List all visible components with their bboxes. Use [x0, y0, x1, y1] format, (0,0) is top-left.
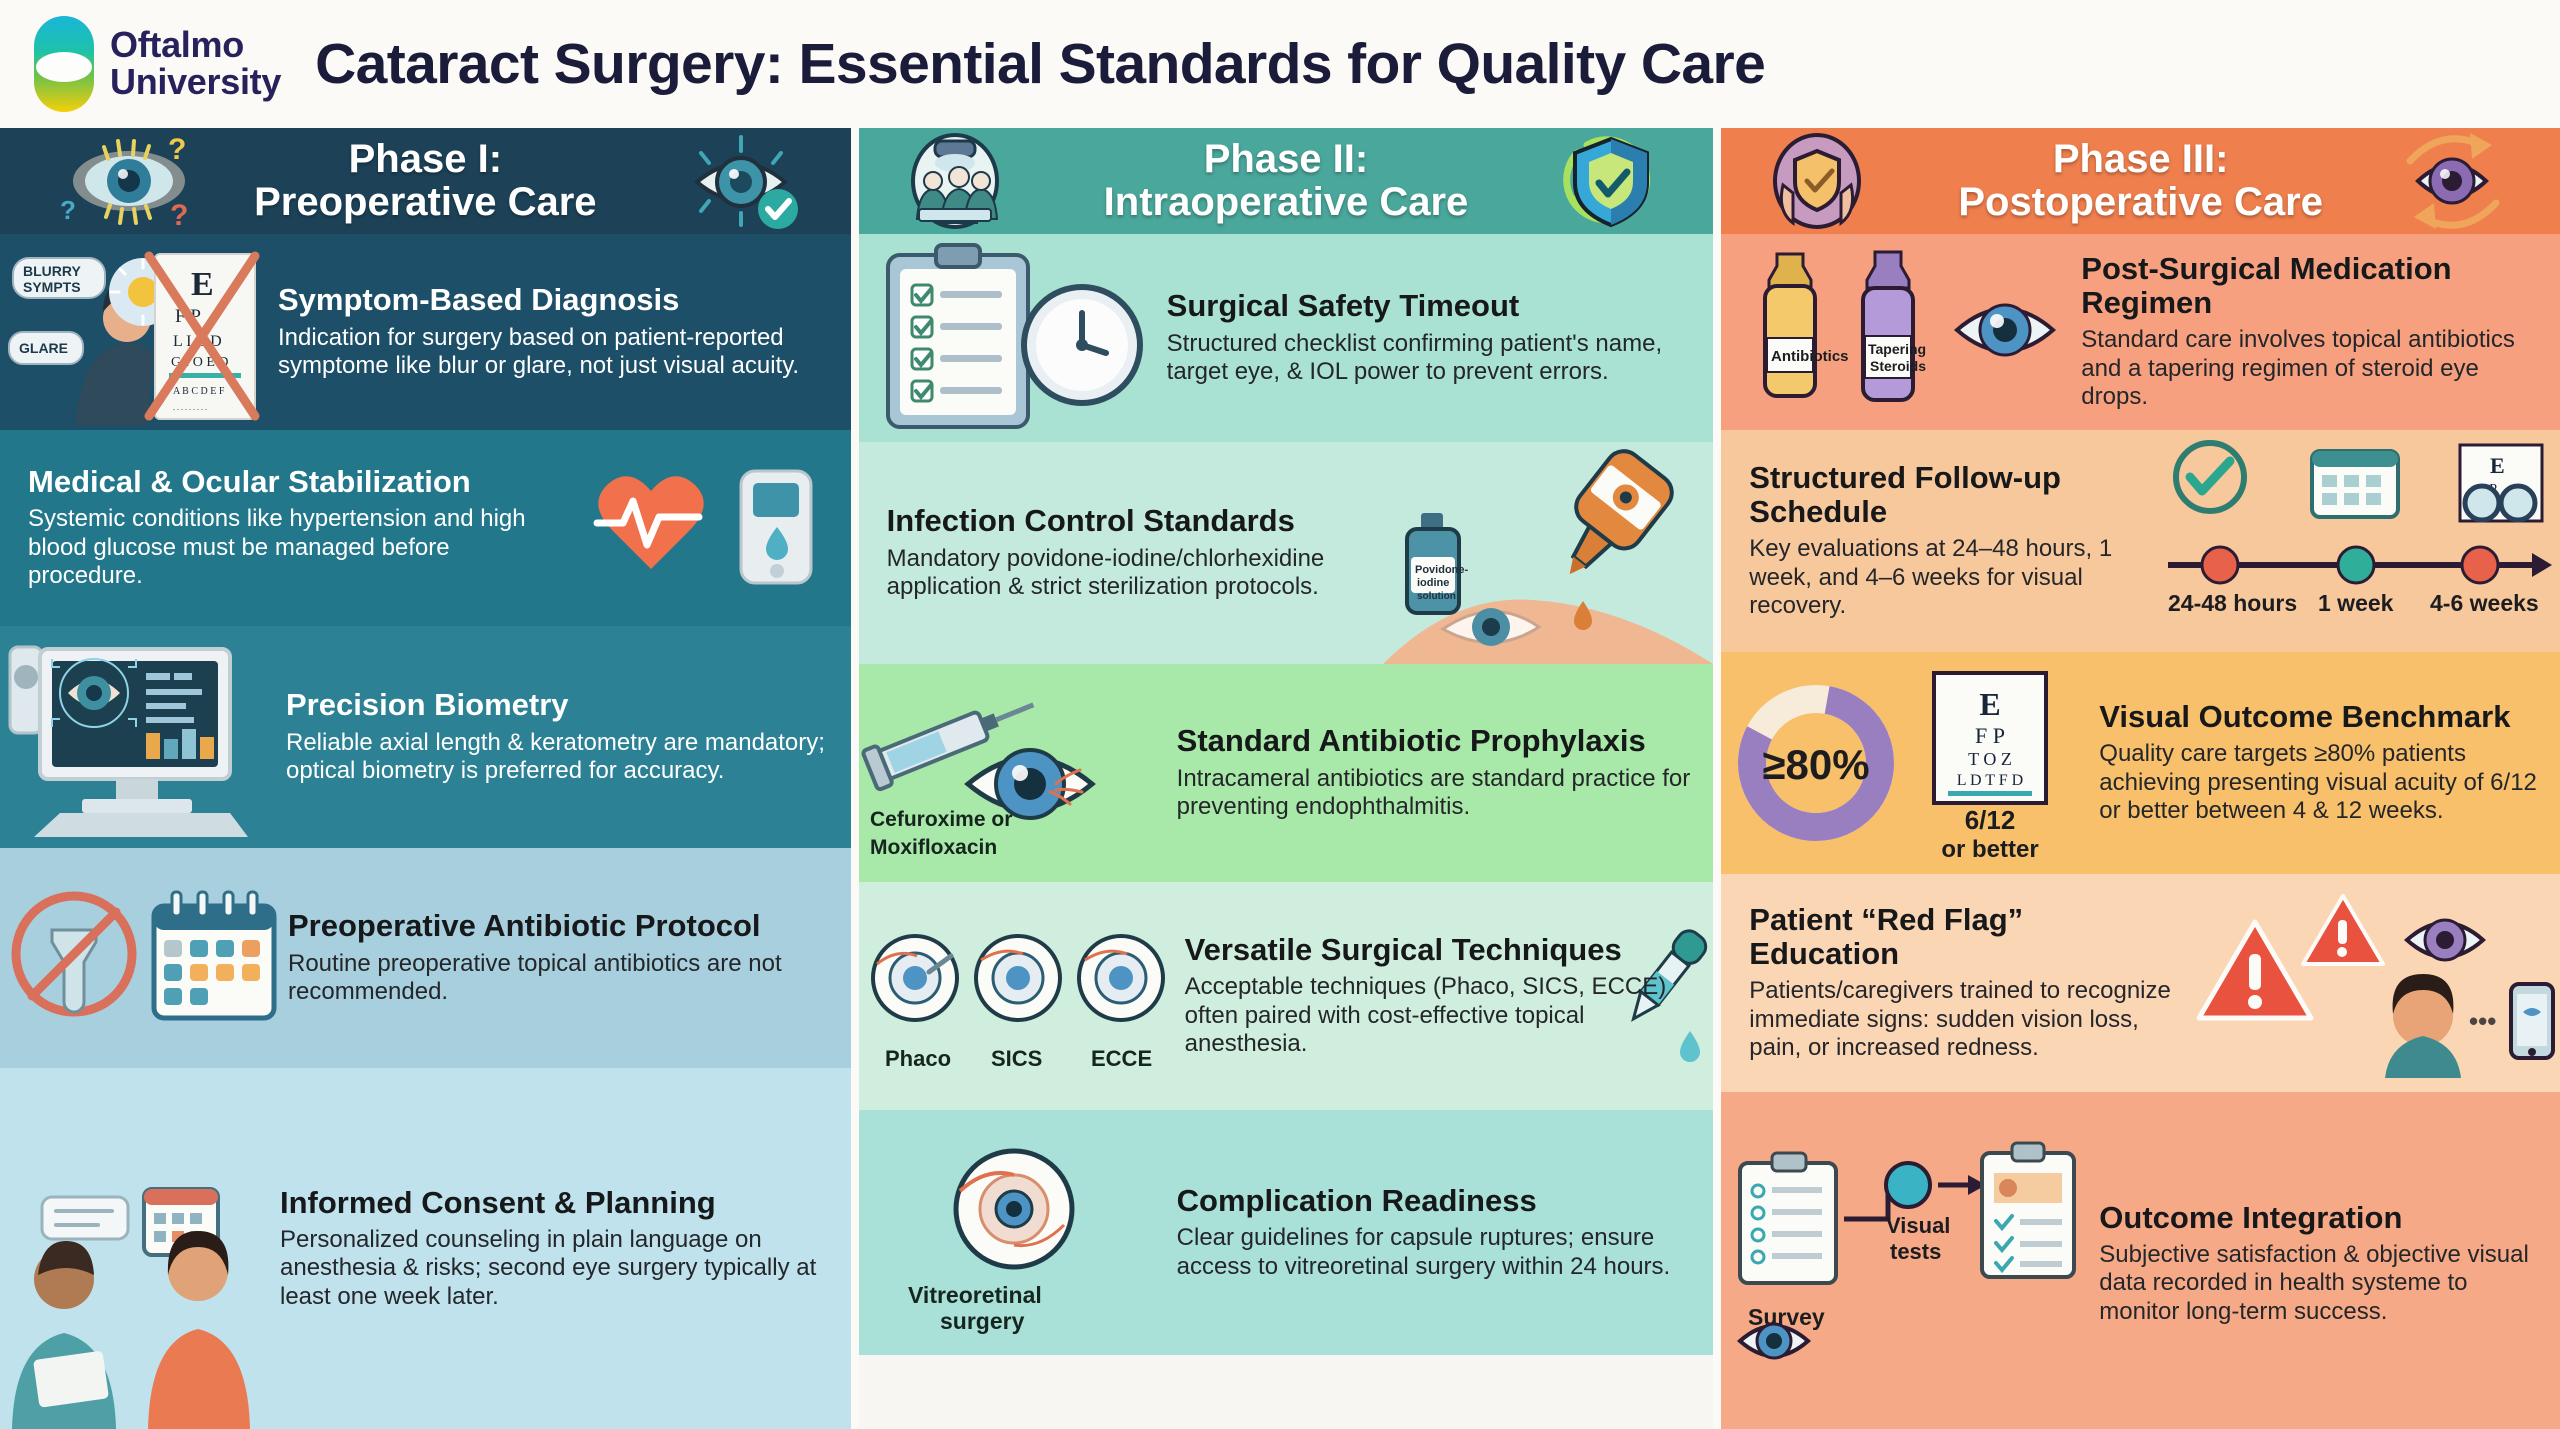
phase-2-title-line-1: Phase II:: [1104, 138, 1469, 181]
svg-text:Moxifloxacin: Moxifloxacin: [870, 836, 997, 859]
svg-text:solution: solution: [1417, 591, 1456, 602]
phase-2-header: Phase II: Intraoperative Care: [859, 128, 1714, 234]
row-title: Versatile Surgical Techniques: [1185, 933, 1692, 967]
row-body: Key evaluations at 24–48 hours, 1 week, …: [1749, 535, 2150, 621]
svg-text:T O Z: T O Z: [1968, 749, 2012, 769]
svg-text:tests: tests: [1890, 1239, 1941, 1264]
row-title: Post-Surgical Medication Regimen: [2081, 252, 2538, 320]
row-outcome-integration: Survey Visual tests: [1721, 1092, 2560, 1429]
lens-shape: [36, 52, 92, 82]
eye-lens-gradient-logo-icon: [34, 16, 94, 112]
doctor-patient-counseling-icon: [0, 1179, 272, 1429]
row-title: Preoperative Antibiotic Protocol: [288, 909, 829, 943]
follow-up-timeline-icon: E F P C E F Y 24-48 hours: [2160, 441, 2560, 641]
svg-text:E: E: [1980, 686, 2001, 722]
row-text: Visual Outcome Benchmark Quality care ta…: [2091, 700, 2560, 826]
svg-text:≥80%: ≥80%: [1763, 741, 1870, 788]
column-phase-1: ? ? ? Phase I: Preoperative Care: [0, 128, 851, 1429]
row-title: Outcome Integration: [2099, 1201, 2538, 1235]
row-title: Surgical Safety Timeout: [1167, 289, 1692, 323]
eye-cross-section-icon: Vitreoretinal surgery: [859, 1133, 1169, 1333]
svg-text:Cefuroxime or: Cefuroxime or: [870, 808, 1012, 831]
svg-text:surgery: surgery: [940, 1308, 1025, 1334]
biometry-monitor-icon: [0, 637, 278, 837]
phase-2-title: Phase II: Intraoperative Care: [1104, 138, 1469, 224]
svg-text:24-48 hours: 24-48 hours: [2168, 590, 2297, 616]
row-text: Surgical Safety Timeout Structured check…: [1159, 289, 1714, 386]
svg-text:?: ?: [168, 133, 186, 166]
svg-text:6/12: 6/12: [1965, 805, 2016, 835]
row-medical-ocular-stabilization: Medical & Ocular Stabilization Systemic …: [0, 430, 851, 626]
eye-with-rotation-arrows-icon: [2388, 133, 2518, 229]
shield-check-cycle-icon: [1551, 133, 1671, 229]
row-title: Medical & Ocular Stabilization: [28, 465, 571, 499]
row-text: Post-Surgical Medication Regimen Standar…: [2073, 252, 2560, 412]
svg-text:. . . . . . . . .: . . . . . . . . .: [173, 403, 207, 412]
svg-text:GLARE: GLARE: [19, 340, 68, 356]
row-body: Standard care involves topical antibioti…: [2081, 326, 2538, 412]
row-title: Patient “Red Flag” Education: [1749, 903, 2180, 971]
svg-text:Steroids: Steroids: [1870, 358, 1926, 374]
row-text: Preoperative Antibiotic Protocol Routine…: [280, 909, 851, 1006]
row-text: Precision Biometry Reliable axial length…: [278, 688, 851, 785]
row-title: Precision Biometry: [286, 688, 829, 722]
svg-text:A B C D E F: A B C D E F: [173, 386, 225, 397]
survey-to-record-flow-icon: Survey Visual tests: [1721, 1149, 2091, 1379]
row-body: Intracameral antibiotics are standard pr…: [1177, 765, 1692, 822]
row-post-surgical-medication-regimen: Antibiotics Tapering Steroids: [1721, 234, 2560, 430]
row-precision-biometry: Precision Biometry Reliable axial length…: [0, 626, 851, 848]
page-title: Cataract Surgery: Essential Standards fo…: [315, 31, 1765, 97]
header-bar: Oftalmo University Cataract Surgery: Ess…: [0, 0, 2560, 128]
row-standard-antibiotic-prophylaxis: Cefuroxime or Moxifloxacin Standard Anti…: [859, 664, 1714, 882]
svg-text:Povidone-: Povidone-: [1415, 564, 1469, 576]
row-symptom-based-diagnosis: BLURRY SYMPTS GLARE: [0, 234, 851, 430]
brand-line-1: Oftalmo: [110, 27, 281, 64]
row-title: Symptom-Based Diagnosis: [278, 283, 829, 317]
row-text: Versatile Surgical Techniques Acceptable…: [1177, 933, 1714, 1059]
row-text: Outcome Integration Subjective satisfact…: [2091, 1201, 2560, 1327]
phase-2-title-line-2: Intraoperative Care: [1104, 181, 1469, 224]
row-body: Systemic conditions like hypertension an…: [28, 505, 571, 591]
warning-triangles-patient-phone-icon: •••: [2190, 888, 2560, 1078]
svg-text:Tapering: Tapering: [1868, 341, 1926, 357]
row-preoperative-antibiotic-protocol: Preoperative Antibiotic Protocol Routine…: [0, 848, 851, 1068]
row-body: Subjective satisfaction & objective visu…: [2099, 1241, 2538, 1327]
svg-text:SYMPTS: SYMPTS: [23, 279, 81, 295]
brand-name: Oftalmo University: [110, 27, 281, 100]
row-body: Quality care targets ≥80% patients achie…: [2099, 740, 2538, 826]
eye-drop-bottles-icon: Antibiotics Tapering Steroids: [1721, 242, 2073, 422]
row-text: Structured Follow-up Schedule Key evalua…: [1721, 461, 2160, 621]
row-body: Acceptable techniques (Phaco, SICS, ECCE…: [1185, 973, 1692, 1059]
svg-text:BLURRY: BLURRY: [23, 263, 81, 279]
row-visual-outcome-benchmark: ≥80% E F P T O Z L D T F D 6/12 or bette…: [1721, 652, 2560, 874]
svg-text:1 week: 1 week: [2318, 590, 2394, 616]
svg-text:F P: F P: [1975, 723, 2005, 748]
svg-text:?: ?: [60, 195, 76, 225]
row-informed-consent-planning: Informed Consent & Planning Personalized…: [0, 1068, 851, 1429]
svg-text:Antibiotics: Antibiotics: [1771, 348, 1849, 365]
row-body: Patients/caregivers trained to recognize…: [1749, 977, 2180, 1063]
row-text: Medical & Ocular Stabilization Systemic …: [0, 465, 581, 591]
row-complication-readiness: Vitreoretinal surgery Complication Readi…: [859, 1110, 1714, 1355]
phase-columns: ? ? ? Phase I: Preoperative Care: [0, 128, 2560, 1429]
phase-3-title: Phase III: Postoperative Care: [1958, 138, 2323, 224]
column-phase-2: Phase II: Intraoperative Care: [851, 128, 1722, 1429]
no-antibiotic-and-calendar-icon: [0, 868, 280, 1048]
row-structured-follow-up-schedule: Structured Follow-up Schedule Key evalua…: [1721, 430, 2560, 652]
phase-1-header: ? ? ? Phase I: Preoperative Care: [0, 128, 851, 234]
phase-1-title-line-1: Phase I:: [254, 138, 596, 181]
row-body: Personalized counseling in plain languag…: [280, 1226, 829, 1312]
row-infection-control-standards: Infection Control Standards Mandatory po…: [859, 442, 1714, 664]
svg-text:Phaco: Phaco: [885, 1046, 951, 1071]
eye-with-question-marks-icon: ? ? ?: [44, 133, 214, 229]
svg-text:4-6 weeks: 4-6 weeks: [2430, 590, 2539, 616]
donut-chart-and-eye-chart-icon: ≥80% E F P T O Z L D T F D 6/12 or bette…: [1721, 663, 2091, 863]
svg-text:ECCE: ECCE: [1091, 1046, 1152, 1071]
svg-text:Visual: Visual: [1886, 1213, 1950, 1238]
phase-3-header: Phase III: Postoperative Care: [1721, 128, 2560, 234]
row-title: Standard Antibiotic Prophylaxis: [1177, 724, 1692, 758]
row-body: Reliable axial length & keratometry are …: [286, 729, 829, 786]
heart-pulse-and-glucometer-icon: [581, 453, 851, 603]
three-eye-technique-diagrams-icon: Phaco SICS: [859, 916, 1177, 1076]
svg-text:Vitreoretinal: Vitreoretinal: [908, 1282, 1042, 1308]
svg-text:or better: or better: [1942, 836, 2039, 863]
row-title: Complication Readiness: [1177, 1184, 1692, 1218]
eye-chart-crossed-out-icon: BLURRY SYMPTS GLARE: [0, 240, 270, 425]
row-text: Informed Consent & Planning Personalized…: [272, 1186, 851, 1312]
brand-logo: Oftalmo University: [34, 16, 281, 112]
checklist-clipboard-and-clock-icon: [859, 241, 1159, 436]
eye-check-icon: [679, 133, 809, 229]
phase-1-title-line-2: Preoperative Care: [254, 181, 596, 224]
row-title: Structured Follow-up Schedule: [1749, 461, 2150, 529]
column-phase-3: Phase III: Postoperative Care: [1721, 128, 2560, 1429]
row-body: Routine preoperative topical antibiotics…: [288, 950, 829, 1007]
svg-text:E: E: [2490, 453, 2505, 478]
row-title: Infection Control Standards: [887, 504, 1374, 538]
svg-text:?: ?: [170, 199, 188, 232]
row-patient-red-flag-education: Patient “Red Flag” Education Patients/ca…: [1721, 874, 2560, 1092]
row-body: Structured checklist confirming patient'…: [1167, 330, 1692, 387]
phase-1-title: Phase I: Preoperative Care: [254, 138, 596, 224]
phase-3-title-line-2: Postoperative Care: [1958, 181, 2323, 224]
row-body: Clear guidelines for capsule ruptures; e…: [1177, 1224, 1692, 1281]
svg-text:iodine: iodine: [1417, 577, 1449, 589]
hands-holding-shield-check-icon: [1765, 133, 1869, 229]
row-title: Visual Outcome Benchmark: [2099, 700, 2538, 734]
svg-text:L D T F D: L D T F D: [1957, 772, 2023, 789]
svg-text:•••: •••: [2469, 1006, 2496, 1036]
row-body: Mandatory povidone-iodine/chlorhexidine …: [887, 545, 1374, 602]
row-versatile-surgical-techniques: Phaco SICS: [859, 882, 1714, 1110]
infographic-page: Oftalmo University Cataract Surgery: Ess…: [0, 0, 2560, 1429]
phase-3-title-line-1: Phase III:: [1958, 138, 2323, 181]
row-surgical-safety-timeout: Surgical Safety Timeout Structured check…: [859, 234, 1714, 442]
row-body: Indication for surgery based on patient-…: [278, 324, 829, 381]
row-text: Patient “Red Flag” Education Patients/ca…: [1721, 903, 2190, 1063]
povidone-iodine-bottle-and-dropper-icon: Povidone- iodine solution: [1383, 449, 1713, 664]
operating-room-team-icon: [903, 133, 1007, 229]
row-text: Standard Antibiotic Prophylaxis Intracam…: [1169, 724, 1714, 821]
svg-text:E: E: [191, 266, 214, 303]
svg-text:SICS: SICS: [991, 1046, 1042, 1071]
brand-line-2: University: [110, 64, 281, 101]
row-text: Symptom-Based Diagnosis Indication for s…: [270, 283, 851, 380]
row-text: Infection Control Standards Mandatory po…: [859, 504, 1384, 601]
row-text: Complication Readiness Clear guidelines …: [1169, 1184, 1714, 1281]
syringe-into-eye-icon: Cefuroxime or Moxifloxacin: [859, 678, 1169, 868]
row-title: Informed Consent & Planning: [280, 1186, 829, 1220]
